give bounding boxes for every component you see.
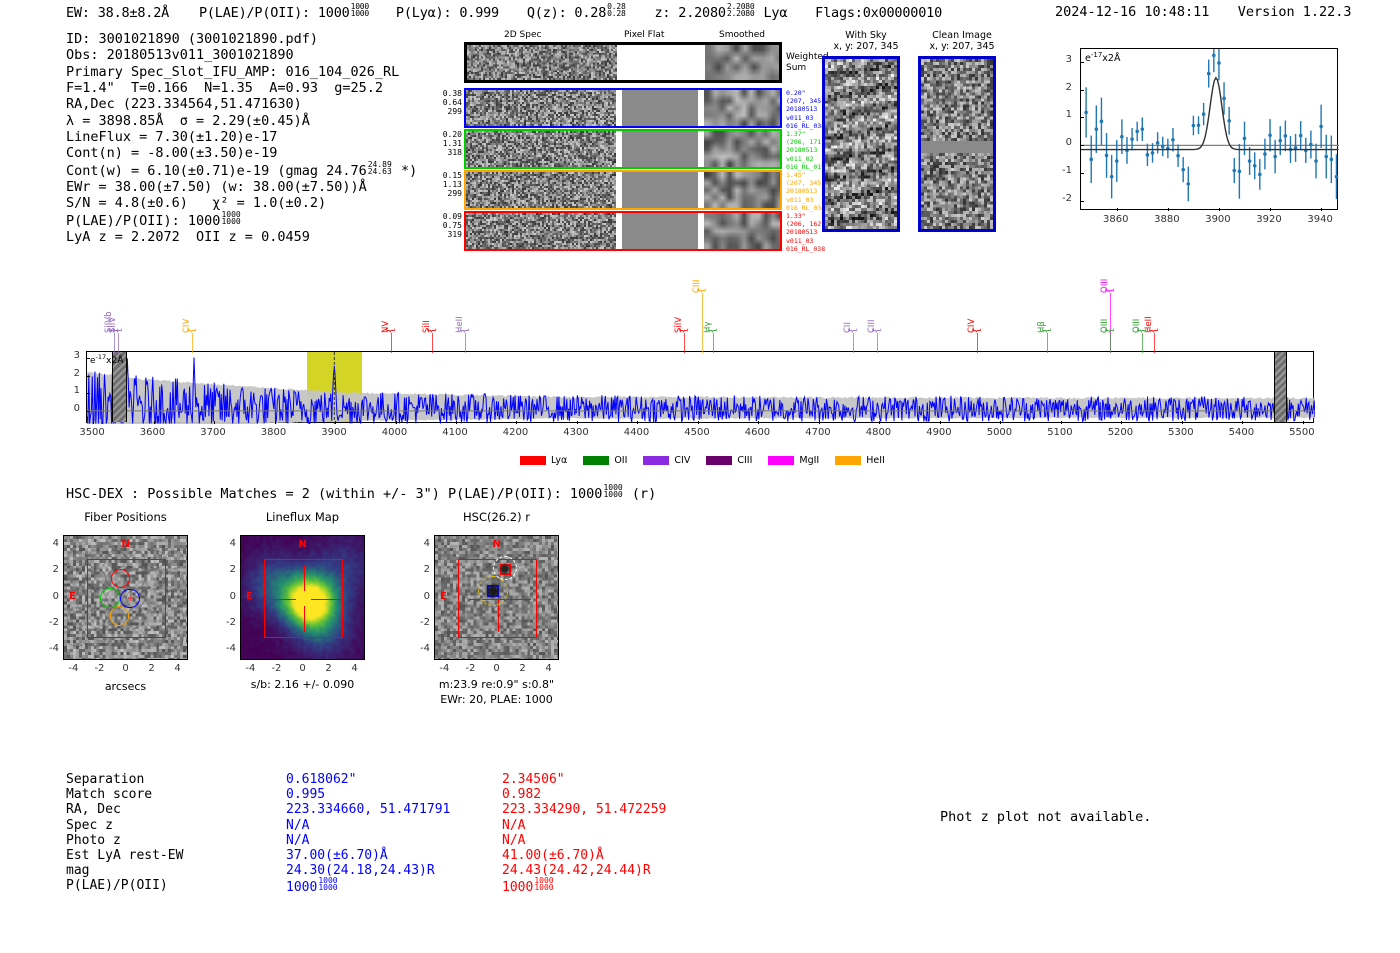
full-spectrum-xtick: 5200 [1098,427,1142,438]
full-spectrum-xtick-mark [940,421,941,424]
full-spectrum-xtick-mark [698,421,699,424]
fiber-grid-circle [106,628,126,648]
match-table-row-label: Match score [66,787,296,802]
spec2d-row-meta-line: (206, 162) [786,220,825,228]
fiber-grid-circle [145,550,165,570]
spec2d-row-meta-line: 1.45" [786,171,825,179]
match-table-row-label: RA, Dec [66,802,296,817]
spec2d-row-stat-value: 0.09 [422,212,462,221]
emission-line-stem [1047,333,1048,353]
full-spectrum-ytick-mark [87,393,90,394]
thumbnail-ytick: 0 [410,591,430,602]
full-spectrum-xtick-mark [1303,421,1304,424]
info-primary-spec: Primary Spec_Slot_IFU_AMP: 016_104_026_R… [66,64,417,80]
full-spectrum-xtick: 4900 [917,427,961,438]
match-table-row-label: mag [66,863,296,878]
thumbnail-xtick: -4 [432,663,456,674]
full-spectrum-xtick-mark [456,421,457,424]
thumbnail-xtick: 2 [140,663,164,674]
header-plya: P(Lyα): 0.999 [396,5,499,21]
zoom-plot-ytick-mark [1081,117,1084,118]
fiber-grid-circle [145,608,165,628]
hscdex-plae-fraction: 10001000 [603,484,622,498]
zoom-plot-xtick: 3860 [1099,214,1133,225]
full-spectrum-ytick: 3 [64,350,80,361]
fiber-grid-circle [106,589,126,609]
match-table-cell: N/A [286,818,516,833]
spec2d-row-meta-line: v011_02 [786,155,825,163]
spec2d-row-stat-value: 0.20 [422,130,462,139]
emission-line-stem [391,333,392,353]
spec2d-row-meta-line: 1.33" [786,212,825,220]
spec2d-row-meta-line: 20180513 [786,187,825,195]
clean-image-gap [921,141,993,153]
source-blob-secondary [499,563,511,575]
spec2d-row-meta-line: (207, 345) [786,97,825,105]
thumbnail-xtick: -2 [87,663,111,674]
fiber-grid-circle [67,608,87,628]
spec2d-row-meta-line: 0.20" [786,89,825,97]
spec2d-row-meta: 1.37"(206, 171)20180513v011_02016_RL_019 [786,130,825,171]
full-spectrum-xtick-mark [1121,421,1122,424]
full-spectrum-ytick-mark [87,358,90,359]
spec2d-row-meta-line: (207, 345) [786,179,825,187]
legend-swatch [583,456,609,465]
thumbnail-title: HSC(26.2) r [409,510,584,524]
match-table-cell: 0.995 [286,787,516,802]
emission-line-stem [684,333,685,353]
zoom-plot-ytick-mark [1081,90,1084,91]
full-spectrum-xtick: 4600 [735,427,779,438]
spec2d-row-meta-line: 20180513 [786,146,825,154]
full-spectrum-xtick-mark [819,421,820,424]
thumbnail-ytick: 0 [39,591,59,602]
spec2d-row-stat-value: 299 [422,189,462,198]
spec2d-row-meta-line: v011_03 [786,196,825,204]
header-version: Version 1.22.3 [1238,4,1352,20]
thumbnail-ytick: 2 [410,564,430,575]
crosshair-left [264,599,295,600]
fiber-grid-circle [87,608,107,628]
header-ew: EW: 38.8±8.2Å [66,5,169,21]
fiber-grid-circle [165,608,185,628]
zoom-plot-ytick-mark [1081,145,1084,146]
zoom-plot-ytick-mark [1081,62,1084,63]
full-spectrum-xtick: 3700 [191,427,235,438]
zoom-plot-xtick: 3880 [1150,214,1184,225]
match-table-cell: 223.334660, 51.471791 [286,802,516,817]
legend-label: Lyα [551,455,567,466]
spec2d-column-header: Pixel Flat [624,30,664,40]
full-spectrum-xtick: 5400 [1219,427,1263,438]
zoom-plot-xtick: 3900 [1201,214,1235,225]
match-table-cell: 41.00(±6.70)Å [502,848,732,863]
match-table-cell: N/A [502,833,732,848]
match-table-row-label: Photo z [66,833,296,848]
spec2d-row-stat-value: 1.13 [422,180,462,189]
fiber-grid-circle [67,569,87,589]
spec2d-column-header: Smoothed [719,30,765,40]
header-timestamp-version: 2024-12-16 10:48:11 Version 1.22.3 [1055,4,1352,20]
full-spectrum-masked-band [1274,352,1287,422]
emission-line-stem [465,333,466,353]
emission-line-stem [192,333,193,353]
zoom-plot-ytick: -1 [1048,165,1072,176]
pixel-flat-cell [622,131,698,167]
clean-image-cutout [918,56,996,232]
spec2d-row-stat-value: 318 [422,148,462,157]
cutout-coords: x, y: 207, 345 [814,41,918,52]
full-spectrum-xtick-mark [577,421,578,424]
fiber-grid-circle [145,569,165,589]
thumbnail-ytick: -2 [39,617,59,628]
thumbnail-ytick: 4 [216,538,236,549]
full-spectrum-ytick: 2 [64,368,80,379]
emission-line-stem [977,333,978,353]
info-radec: RA,Dec (223.334564,51.471630) [66,96,417,112]
legend-entry: Lyα [520,455,567,466]
zoom-plot-ytick: 2 [1048,82,1072,93]
thumbnail-ytick: 2 [39,564,59,575]
info-sn-chi2: S/N = 4.8(±0.6) χ² = 1.0(±0.2) [66,195,417,211]
zoom-plot-xtick: 3940 [1303,214,1337,225]
thumbnail-ytick: -4 [39,643,59,654]
legend-swatch [520,456,546,465]
full-spectrum-xtick: 4200 [493,427,537,438]
spec2d-row-meta-line: 20180513 [786,228,825,236]
header-z-suffix: Lyα [763,5,787,21]
match-table-cell: 37.00(±6.70)Å [286,848,516,863]
with-sky-cutout [822,56,900,232]
spec2d-row-meta-line: v011_03 [786,237,825,245]
spec2d-fiber-row [464,129,782,169]
zoom-plot-data [1081,49,1339,211]
match-table-cell: 100010001000 [286,878,516,893]
target-crosshair-marker: + [127,593,135,604]
spec2d-row-meta-line: 016_RL_038 [786,245,825,253]
full-spectrum-xtick-mark [879,421,880,424]
full-spectrum-xtick: 4700 [796,427,840,438]
legend-swatch [768,456,794,465]
thumbnail-xtick: -4 [238,663,262,674]
fiber-grid-circle [67,589,87,609]
image-cutouts-group: With Skyx, y: 207, 345Clean Imagex, y: 2… [822,30,1022,255]
zoom-spectrum-plot: e-17x2Å38603880390039203940-2-10123 [1040,48,1338,260]
compass-north-label: N [122,539,130,550]
spec2d-row-stat-value: 319 [422,230,462,239]
full-spectrum-xtick: 5300 [1159,427,1203,438]
spec2d-row-meta: 1.45"(207, 345)20180513v011_03016_RL_038 [786,171,825,212]
match-table-row-label: P(LAE)/P(OII) [66,878,296,893]
legend-swatch [835,456,861,465]
thumbnail-xtick: -2 [458,663,482,674]
pixel-flat-cell [622,90,698,126]
thumbnail-ytick: -4 [216,643,236,654]
full-spectrum-xtick: 5500 [1280,427,1324,438]
info-cont-wide: Cont(w) = 6.10(±0.71)e-19 (gmag 24.7624.… [66,162,417,179]
full-spectrum-xtick-mark [637,421,638,424]
thumbnail-xlabel: arcsecs [63,680,188,693]
header-qz-label: Q(z): 0.28 [527,5,606,21]
emission-line-stem [713,333,714,353]
thumbnail-ytick: 2 [216,564,236,575]
thumbnail-xtick: -2 [264,663,288,674]
full-spectrum-xtick: 4800 [856,427,900,438]
zoom-plot-xtick-mark [1168,208,1169,211]
fiber-grid-circle [106,569,126,589]
crosshair-bottom [304,606,305,632]
spec2d-row-stats: 0.201.31318 [422,130,462,158]
full-spectrum-xtick-mark [335,421,336,424]
fiber-grid-circle [67,550,87,570]
full-spectrum-xtick: 3900 [312,427,356,438]
thumbnail-caption: s/b: 2.16 +/- 0.090 [205,678,400,691]
fiber-grid-circle [106,608,126,628]
spec2d-row-meta: 1.33"(206, 162)20180513v011_03016_RL_038 [786,212,825,253]
header-z-fraction: 2.20802.2080 [727,3,755,17]
thumbnail-panels-group: Fiber PositionsNE+-4-4-2-2002244arcsecsL… [0,505,1400,755]
thumbnail-xtick: 4 [343,663,367,674]
emission-line-stem [1110,333,1111,353]
zoom-plot-xtick: 3920 [1252,214,1286,225]
fiber-grid-circle [126,608,146,628]
full-spectrum-xtick: 4300 [554,427,598,438]
full-spectrum-xtick: 4500 [675,427,719,438]
legend-swatch [643,456,669,465]
match-table-row-label: Est LyA rest-EW [66,848,296,863]
object-info-block: ID: 3001021890 (3001021890.pdf) Obs: 201… [66,31,417,245]
emission-line-stem [432,333,433,353]
full-spectrum-xtick-mark [275,421,276,424]
legend-entry: CIV [643,455,690,466]
zoom-plot-xtick-mark [1270,208,1271,211]
header-summary-line: EW: 38.8±8.2Å P(LAE)/P(OII): 10001000100… [66,4,942,21]
thumbnail-xtick: 0 [485,663,509,674]
full-spectrum-xtick-mark [396,421,397,424]
thumbnail-ytick: 0 [216,591,236,602]
spec2d-row-meta-line: 016_RL_019 [786,163,825,171]
emission-line-stem [114,333,115,353]
full-spectrum-xtick: 3600 [131,427,175,438]
zoom-plot-axes: e-17x2Å [1080,48,1338,210]
fiber-grid-circle [126,569,146,589]
compass-north-label: N [493,539,501,550]
spec2d-row-meta-line: 016_RL_038 [786,204,825,212]
hscdex-text: HSC-DEX : Possible Matches = 2 (within +… [66,486,602,502]
thumbnail-ytick: -2 [216,617,236,628]
info-cont-narrow: Cont(n) = -8.00(±3.50)e-19 [66,145,417,161]
emission-line-stem [853,333,854,353]
match-table-cell: 100010001000 [502,878,732,893]
match-table-cell-value: 1000 [286,880,317,895]
spec2d-row-meta: 0.20"(207, 345)20180513v011_03016_RL_038 [786,89,825,130]
emission-line-stem [877,333,878,353]
info-lambda-sigma: λ = 3898.85Å σ = 2.29(±0.45)Å [66,113,417,129]
full-spectrum-data [87,352,1315,424]
thumbnail-caption: EWr: 20, PLAE: 1000 [399,693,594,706]
spec2d-column-header: 2D Spec [504,30,541,40]
thumbnail-xtick: 4 [166,663,190,674]
thumbnail-title: Lineflux Map [215,510,390,524]
legend-entry: HeII [835,455,885,466]
full-spectrum-ytick-mark [87,411,90,412]
emission-line-stem [1142,333,1143,353]
header-plae-fraction: 10001000 [351,3,369,17]
spec2d-row-meta-line: 20180513 [786,105,825,113]
match-table-cell: 0.618062" [286,772,516,787]
full-spectrum-xtick-mark [154,421,155,424]
pixel-flat-cell [622,213,698,249]
zoom-plot-ytick-mark [1081,201,1084,202]
full-spectrum-ytick: 0 [64,403,80,414]
cutout-title: Clean Image [910,30,1014,41]
info-id: ID: 3001021890 (3001021890.pdf) [66,31,417,47]
match-table-cell: N/A [286,833,516,848]
emission-line-stem [1154,333,1155,353]
full-spectrum-xtick-mark [1242,421,1243,424]
emission-line-legend: LyαOIICIVCIIIMgIIHeII [520,455,885,466]
zoom-plot-ytick-mark [1081,173,1084,174]
full-spectrum-xtick-mark [93,421,94,424]
cutout-header: Clean Imagex, y: 207, 345 [910,30,1014,52]
zoom-plot-xtick-mark [1321,208,1322,211]
full-spectrum-xtick: 5100 [1038,427,1082,438]
spec2d-row-meta-line: (206, 171) [786,138,825,146]
cutout-coords: x, y: 207, 345 [910,41,1014,52]
legend-entry: OII [583,455,627,466]
legend-label: HeII [866,455,885,466]
full-spectrum-xtick-mark [214,421,215,424]
full-spectrum-xtick: 5000 [977,427,1021,438]
hscdex-suffix: (r) [632,486,656,502]
emission-line-stem [118,333,119,353]
compass-east-label: E [440,591,447,602]
thumbnail-image-2: NE [240,535,365,660]
fiber-grid-circle [67,628,87,648]
legend-entry: MgII [768,455,819,466]
header-qz-fraction: 0.280.28 [607,3,625,17]
fiber-grid-circle [165,569,185,589]
cutout-header: With Skyx, y: 207, 345 [814,30,918,52]
fiber-grid-circle [145,628,165,648]
full-spectrum-xtick-mark [1000,421,1001,424]
crosshair-right [311,599,342,600]
info-lineflux: LineFlux = 7.30(±1.20)e-17 [66,129,417,145]
pixel-flat-cell [622,172,698,208]
full-spectrum-xtick-mark [758,421,759,424]
full-spectrum-flux-units: e-17x2Å [90,353,123,366]
match-table-labels: SeparationMatch scoreRA, DecSpec zPhoto … [66,772,296,894]
thumbnail-xtick: 0 [114,663,138,674]
match-table-column: 2.34506"0.982223.334290, 51.472259N/AN/A… [502,772,732,894]
full-spectrum-xtick: 4100 [433,427,477,438]
full-spectrum-ytick: 1 [64,385,80,396]
match-table-column: 0.618062"0.995223.334660, 51.471791N/AN/… [286,772,516,894]
thumbnail-ytick: 4 [410,538,430,549]
spec2d-fiber-row [464,88,782,128]
crosshair-top [304,565,305,591]
spec2d-row-stats: 0.380.64299 [422,89,462,117]
thumbnail-ytick: -4 [410,643,430,654]
match-table-cell: 2.34506" [502,772,732,787]
spec2d-row-meta-line: 1.37" [786,130,825,138]
fiber-grid-circle [145,589,165,609]
thumbnail-image-1: NE+ [63,535,188,660]
zoom-plot-ytick: 1 [1048,109,1072,120]
full-spectrum-xtick-mark [1061,421,1062,424]
info-redshifts: LyA z = 2.2072 OII z = 0.0459 [66,229,417,245]
spec2d-row-stat-value: 0.15 [422,171,462,180]
legend-label: CIV [674,455,690,466]
thumbnail-caption: m:23.9 re:0.9" s:0.8" [399,678,594,691]
legend-swatch [706,456,732,465]
full-spectrum-xtick: 4400 [614,427,658,438]
thumbnail-title: Fiber Positions [38,510,213,524]
match-table-cell: 223.334290, 51.472259 [502,802,732,817]
match-table-row-label: Spec z [66,818,296,833]
spec2d-row-stat-value: 0.75 [422,221,462,230]
full-spectrum-axes: e-17x2Å [86,351,1314,423]
info-plae: P(LAE)/P(OII): 100010001000 [66,212,417,229]
match-table-cell: 0.982 [502,787,732,802]
full-spectrum-xtick: 4000 [373,427,417,438]
thumbnail-xtick: 2 [317,663,341,674]
spec2d-row-meta-line: v011_03 [786,114,825,122]
spec2d-row-stat-value: 299 [422,107,462,116]
legend-label: OII [614,455,627,466]
hscdex-summary-line: HSC-DEX : Possible Matches = 2 (within +… [66,485,656,502]
zoom-plot-ytick: -2 [1048,193,1072,204]
header-z-label: z: 2.2080 [654,5,725,21]
legend-label: MgII [799,455,819,466]
cutout-title: With Sky [814,30,918,41]
full-spectrum-xtick: 3500 [70,427,114,438]
match-table-plae-fraction: 10001000 [318,877,337,891]
thumbnail-xtick: 4 [537,663,561,674]
spec2d-row-stat-value: 0.64 [422,98,462,107]
legend-label: CIII [737,455,752,466]
spec2d-row-stat-value: 1.31 [422,139,462,148]
thumbnail-ytick: 4 [39,538,59,549]
legend-entry: CIII [706,455,752,466]
match-table-cell: N/A [502,818,732,833]
match-table-row-label: Separation [66,772,296,787]
compass-east-label: E [246,591,253,602]
spec2d-row-stats: 0.090.75319 [422,212,462,240]
zoom-plot-ytick: 3 [1048,54,1072,65]
spec2d-fiber-row [464,211,782,251]
weighted-sum-strip [464,42,782,83]
zoom-plot-xtick-mark [1219,208,1220,211]
fiber-grid-circle [106,550,126,570]
spec2d-fiber-row [464,170,782,210]
photz-note: Phot z plot not available. [940,809,1151,825]
thumbnail-image-3: NE [434,535,559,660]
spec2d-row-meta-line: 016_RL_038 [786,122,825,130]
thumbnail-xtick: -4 [61,663,85,674]
fiber-grid-circle [87,569,107,589]
full-spectrum-xtick-mark [1182,421,1183,424]
thumbnail-ytick: -2 [410,617,430,628]
thumbnail-xtick: 0 [291,663,315,674]
full-spectrum-xtick: 3800 [252,427,296,438]
compass-north-label: N [299,539,307,550]
2d-spectrum-panel: 2D SpecPixel FlatSmoothedWeightedSum0.38… [428,30,818,255]
spec2d-row-stat-value: 0.38 [422,89,462,98]
header-flags: Flags:0x00000010 [815,5,942,21]
info-seeing: F=1.4" T=0.166 N=1.35 A=0.93 g=25.2 [66,80,417,96]
spec2d-row-stats: 0.151.13299 [422,171,462,199]
